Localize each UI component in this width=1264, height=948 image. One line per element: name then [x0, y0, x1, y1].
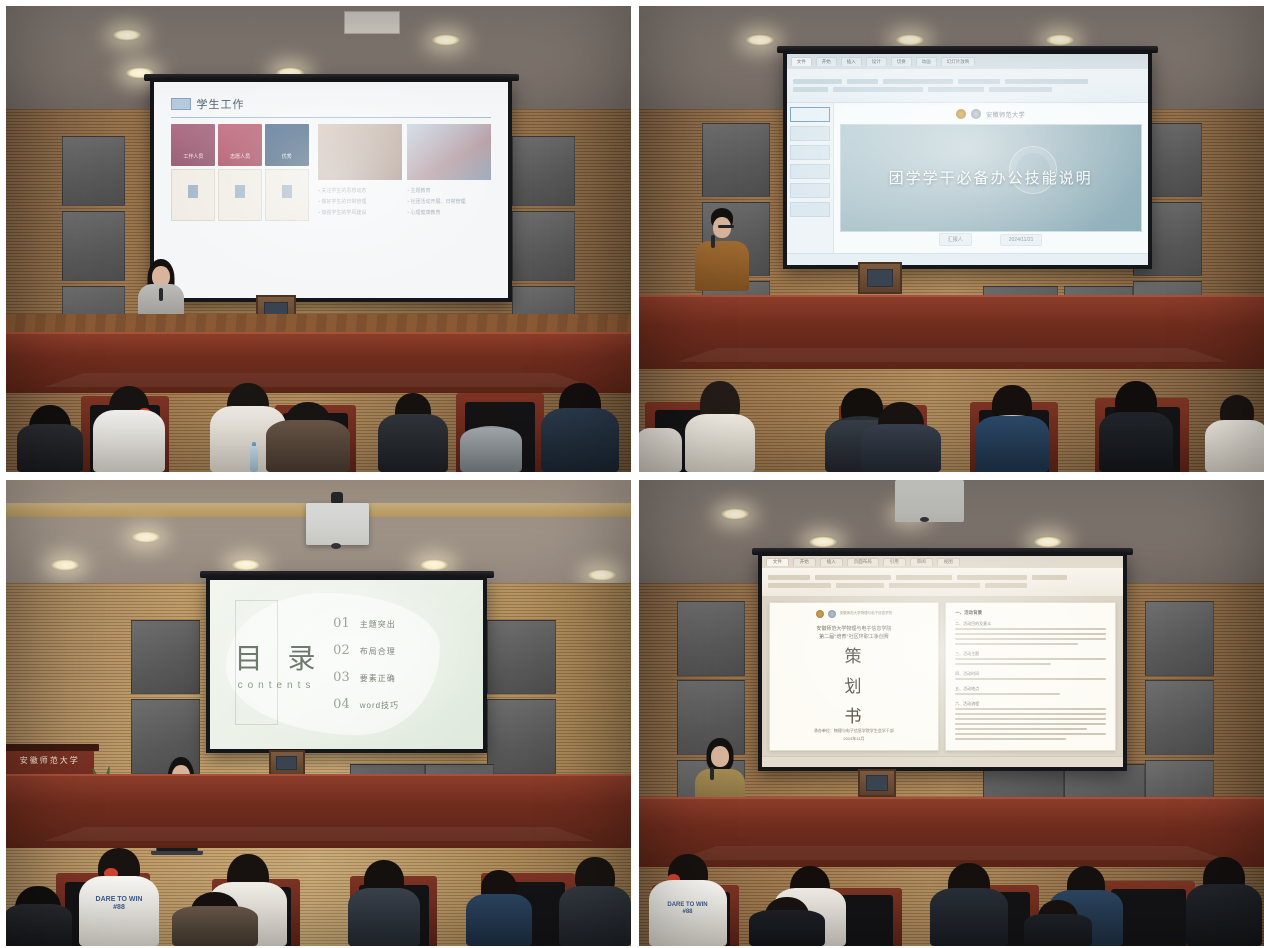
doc-text-line [955, 633, 1105, 636]
audience-torso [466, 894, 532, 946]
water-bottle [250, 446, 258, 472]
slide-canvas: 安徽师范大学 团学学干必备办公技能说明 汇报人 2024/11/21 [834, 103, 1148, 253]
hoodie-text-line2: #88 [113, 904, 125, 911]
poster-label: 工作人员 [171, 153, 215, 160]
presenter [689, 211, 755, 291]
acoustic-panel [62, 136, 125, 206]
audience-member [1102, 381, 1170, 472]
slide-title-rule [171, 117, 490, 118]
app-main-area: 安徽师范大学 团学学干必备办公技能说明 汇报人 2024/11/21 [787, 103, 1148, 253]
doc-text-line [955, 643, 1078, 646]
footer-line-2: 2024年11月 [779, 735, 929, 743]
document-org-block: 安徽师范大学物理与电子信息学院 第二届"培育"社区环职工争创赛 [779, 625, 929, 642]
audience-member [1189, 857, 1259, 946]
audience-member [562, 857, 628, 946]
doc-subsection: 三、活动主题 [955, 651, 1105, 657]
ribbon-control[interactable] [889, 583, 980, 588]
app-status-bar[interactable] [787, 253, 1148, 266]
document-seal-row: 安徽师范大学物理与电子信息学院 [779, 610, 929, 618]
contents-label: word技巧 [360, 700, 399, 711]
university-seal-icon [956, 109, 966, 119]
contents-item: 01 主题突出 [333, 616, 459, 631]
acoustic-panel [131, 620, 200, 695]
acoustic-panel [1145, 601, 1214, 676]
acoustic-panel [512, 211, 575, 281]
institution-name: 安徽师范大学 [986, 110, 1025, 119]
doc-text-line [955, 733, 1105, 736]
ribbon-control[interactable] [793, 79, 842, 84]
tab-home[interactable]: 开始 [793, 558, 816, 565]
id-card [171, 169, 215, 221]
app-ribbon[interactable] [762, 568, 1123, 597]
audience-torso [639, 428, 682, 472]
audience-member [6, 886, 70, 946]
audience-torso [172, 906, 258, 946]
photo-panel-top-left: 学生工作 工作人员 志愿人员 优秀 [6, 6, 631, 472]
document-cover-page: 安徽师范大学物理与电子信息学院 安徽师范大学物理与电子信息学院 第二届"培育"社… [769, 602, 939, 751]
doc-text-line [955, 638, 1105, 641]
doc-text-line [955, 738, 1066, 741]
slide-header: 学生工作 [171, 96, 490, 112]
bullet-column-left: 关注学生的思想动态 做好学生的日常管理 加强学生的学风建设 [318, 187, 401, 216]
doc-subsection: 二、活动目的及意义 [955, 621, 1105, 627]
audience-torso [559, 886, 631, 946]
university-emblem-icon [971, 109, 981, 119]
audience-member [94, 386, 164, 472]
hoodie-graphic-text: DARE TO WIN #88 [96, 896, 143, 912]
audience-torso [460, 428, 522, 472]
ceiling-light [431, 34, 461, 46]
ceiling-light [587, 569, 617, 581]
tab-page-layout[interactable]: 页面布局 [847, 558, 879, 565]
id-card [218, 169, 262, 221]
document-content-page: 一、活动背景 二、活动目的及意义 三、活动主题 四、活动时间 五、活动地点 [945, 602, 1115, 751]
audience-torso [1024, 914, 1092, 946]
bullet-item: 社团活动开展、日常管理 [407, 198, 490, 205]
ribbon-control[interactable] [985, 583, 1027, 588]
audience-torso [378, 414, 448, 472]
ribbon-control[interactable] [1005, 79, 1089, 84]
word-processor-app: 文件 开始 插入 页面布局 引用 审阅 视图 [762, 556, 1123, 767]
projection-screen-surface: 目 录 contents 01 主题突出 02 布局合理 03 [210, 580, 483, 749]
slide-contents: 目 录 contents 01 主题突出 02 布局合理 03 [210, 580, 483, 749]
audience-member [350, 860, 418, 946]
ribbon-row [793, 87, 1142, 92]
audience-member [175, 892, 255, 946]
podium-institution-text: 安徽师范大学 [20, 755, 80, 766]
audience-torso [1205, 420, 1264, 472]
slide-thumbnail[interactable] [790, 107, 830, 122]
audience-torso [749, 910, 825, 946]
tab-references[interactable]: 引用 [883, 558, 906, 565]
footer-line-1: 承办单位：物理与电子信息学院学生会学干部 [779, 727, 929, 735]
hoodie-text-line1: DARE TO WIN [667, 902, 707, 908]
ribbon-control[interactable] [883, 79, 953, 84]
slide-heading-en: contents [238, 680, 334, 691]
doc-subsection: 六、活动流程 [955, 701, 1105, 707]
poster-row: 工作人员 志愿人员 优秀 [171, 124, 308, 166]
audience-member [462, 402, 520, 472]
audience-torso [348, 888, 420, 946]
acoustic-panel [1145, 680, 1214, 755]
slide-photo-banner [407, 124, 491, 180]
slide-footer: 汇报人 2024/11/21 [840, 232, 1142, 248]
audience: DARE TO WIN #88 [639, 792, 1264, 946]
slide-heading-block: 目 录 contents [235, 637, 334, 691]
doc-subsection: 四、活动时间 [955, 671, 1105, 677]
date-label: 2024/11/21 [1000, 234, 1043, 246]
slide-body: 工作人员 志愿人员 优秀 [171, 124, 490, 221]
stage-speaker [269, 750, 305, 776]
doc-text-line [955, 678, 1105, 681]
ceiling-light [745, 34, 775, 46]
ribbon-control[interactable] [896, 575, 952, 580]
microphone-icon [710, 767, 714, 780]
ribbon-row [793, 79, 1142, 84]
seal-caption: 安徽师范大学物理与电子信息学院 [840, 611, 893, 616]
slide-right-column: 关注学生的思想动态 做好学生的日常管理 加强学生的学风建设 主题教育 社团活动开… [318, 124, 490, 221]
audience-torso [266, 420, 350, 472]
contents-number: 02 [333, 643, 350, 658]
presentation-app: 文件 开始 插入 设计 切换 动画 幻灯片放映 [787, 54, 1148, 265]
audience-torso [1186, 884, 1262, 946]
audience-member [269, 402, 347, 472]
speaker-grille-icon [867, 269, 893, 287]
eyeglasses-icon [718, 225, 734, 228]
slide-thumbnail-pane[interactable] [787, 103, 834, 253]
presenter-label: 汇报人 [939, 233, 972, 246]
slide-heading-cn: 目 录 [235, 637, 334, 677]
doc-section-heading: 一、活动背景 [955, 610, 1105, 616]
slide-thumbnail[interactable] [790, 183, 830, 198]
audience-torso [1099, 412, 1173, 472]
tab-insert[interactable]: 插入 [841, 57, 862, 66]
photo-panel-bottom-left: 目 录 contents 01 主题突出 02 布局合理 03 [6, 480, 631, 946]
bullet-column-right: 主题教育 社团活动开展、日常管理 心理健康教育 [407, 187, 490, 216]
doc-text-line [955, 723, 1105, 726]
projector-body [306, 503, 369, 545]
ceiling-projector [331, 492, 343, 504]
ribbon-control[interactable] [833, 87, 924, 92]
audience [639, 304, 1264, 472]
acoustic-panel [512, 136, 575, 206]
tab-animations[interactable]: 动画 [916, 57, 937, 66]
projection-screen-frame: 文件 开始 插入 设计 切换 动画 幻灯片放映 [783, 50, 1152, 269]
doc-text-line [955, 728, 1087, 731]
audience-member [639, 415, 679, 472]
poster-label: 志愿人员 [218, 153, 262, 160]
contents-label: 要素正确 [360, 673, 396, 684]
doc-text-line [955, 663, 1051, 666]
ceiling-light [808, 536, 838, 548]
photo-panel-top-right: 文件 开始 插入 设计 切换 动画 幻灯片放映 [639, 6, 1264, 472]
projection-screen-frame: 目 录 contents 01 主题突出 02 布局合理 03 [206, 576, 487, 753]
speaker-grille-icon [276, 756, 297, 770]
slide-bullet-area: 关注学生的思想动态 做好学生的日常管理 加强学生的学风建设 主题教育 社团活动开… [318, 187, 490, 216]
projection-screen-frame: 文件 开始 插入 页面布局 引用 审阅 视图 [758, 552, 1127, 771]
audience-torso [17, 424, 83, 472]
audience-torso [861, 424, 941, 472]
tab-transitions[interactable]: 切换 [891, 57, 912, 66]
hoodie-text-line2: #88 [682, 909, 692, 915]
document-page-spread[interactable]: 安徽师范大学物理与电子信息学院 安徽师范大学物理与电子信息学院 第二届"培育"社… [762, 597, 1123, 756]
audience-member [689, 381, 751, 472]
poster-item: 工作人员 [171, 124, 215, 166]
presenter-body [695, 241, 749, 291]
doc-subsection: 五、活动地点 [955, 686, 1105, 692]
poster-item: 优秀 [265, 124, 309, 166]
ceiling-light [1033, 536, 1063, 548]
bullet-item: 关注学生的思想动态 [318, 187, 401, 194]
acoustic-panel [487, 620, 556, 695]
audience-torso [975, 416, 1049, 472]
poster-label: 优秀 [265, 153, 309, 160]
ceiling-light [720, 508, 750, 520]
slide-photo-speaker [318, 124, 402, 180]
tab-view[interactable]: 视图 [937, 558, 960, 565]
audience-torso [685, 414, 755, 472]
slide-student-work: 学生工作 工作人员 志愿人员 优秀 [154, 82, 509, 298]
ribbon-control[interactable] [989, 87, 1052, 92]
contents-number: 03 [333, 670, 350, 685]
photo-collage: 学生工作 工作人员 志愿人员 优秀 [0, 0, 1264, 948]
doc-text-line [955, 628, 1105, 631]
projection-screen-surface: 学生工作 工作人员 志愿人员 优秀 [154, 82, 509, 298]
audience-member [469, 870, 529, 946]
ribbon-control[interactable] [836, 583, 885, 588]
slide-contents-list: 01 主题突出 02 布局合理 03 要素正确 04 [333, 616, 459, 712]
microphone-icon [711, 235, 715, 248]
slide-institution-header: 安徽师范大学 [840, 108, 1142, 121]
portrait-icon [188, 185, 198, 198]
ribbon-control[interactable] [1032, 575, 1067, 580]
ribbon-control[interactable] [957, 575, 1027, 580]
ribbon-control[interactable] [815, 575, 892, 580]
audience-member [752, 897, 822, 946]
contents-item: 04 word技巧 [333, 697, 459, 712]
projection-screen-surface: 文件 开始 插入 设计 切换 动画 幻灯片放映 [787, 54, 1148, 265]
slide-title: 学生工作 [196, 96, 244, 112]
slide-photo-row [318, 124, 490, 180]
org-line-1: 安徽师范大学物理与电子信息学院 [779, 625, 929, 634]
ribbon-control[interactable] [768, 583, 831, 588]
projector-lens-icon [331, 543, 341, 549]
slide-title-banner: 团学学干必备办公技能说明 [840, 124, 1142, 232]
acoustic-panel [487, 699, 556, 774]
app-tab-bar[interactable]: 文件 开始 插入 页面布局 引用 审阅 视图 [762, 556, 1123, 568]
document-cover-footer: 承办单位：物理与电子信息学院学生会学干部 2024年11月 [779, 727, 929, 743]
hoodie-text-line1: DARE TO WIN [96, 896, 143, 903]
title-char-1: 策 [844, 642, 863, 667]
university-seal-icon [816, 610, 824, 618]
ribbon-control[interactable] [768, 575, 810, 580]
microphone-icon [159, 288, 163, 301]
audience-member [933, 863, 1005, 946]
acoustic-panel [702, 123, 771, 198]
slide-title-marker-icon [171, 98, 191, 110]
contents-item: 03 要素正确 [333, 670, 459, 685]
doc-text-line [955, 693, 1060, 696]
ribbon-row [768, 575, 1117, 580]
portrait-icon [282, 185, 292, 198]
contents-item: 02 布局合理 [333, 643, 459, 658]
ribbon-control[interactable] [793, 87, 828, 92]
ceiling-light [895, 34, 925, 46]
acoustic-panel [677, 601, 746, 676]
tab-review[interactable]: 审阅 [910, 558, 933, 565]
ceiling-light [1045, 34, 1075, 46]
audience-torso [93, 410, 165, 472]
poster-item: 志愿人员 [218, 124, 262, 166]
org-line-2: 第二届"培育"社区环职工争创赛 [779, 633, 929, 642]
audience-member [19, 405, 81, 472]
speaker-grille-icon [866, 775, 888, 790]
tab-file[interactable]: 文件 [766, 558, 789, 565]
ribbon-control[interactable] [847, 79, 878, 84]
slide-thumbnail[interactable] [790, 164, 830, 179]
audience-torso [541, 408, 619, 472]
audience-member [1208, 395, 1264, 472]
audience-member [977, 385, 1047, 472]
slide-thumbnail[interactable] [790, 126, 830, 141]
tab-insert[interactable]: 插入 [820, 558, 843, 565]
doc-text-line [955, 713, 1105, 716]
title-char-3: 书 [844, 702, 863, 727]
audience-member [544, 383, 616, 472]
tab-file[interactable]: 文件 [791, 57, 812, 66]
projection-screen-surface: 文件 开始 插入 页面布局 引用 审阅 视图 [762, 556, 1123, 767]
doc-text-line [955, 718, 1105, 721]
ribbon-control[interactable] [958, 79, 1000, 84]
bullet-item: 主题教育 [407, 187, 490, 194]
audience-torso [6, 904, 72, 946]
slide-left-column: 工作人员 志愿人员 优秀 [171, 124, 308, 221]
audience-member [864, 402, 938, 472]
audience [6, 314, 631, 472]
doc-text-line [955, 658, 1105, 661]
contents-number: 04 [333, 697, 350, 712]
document-title: 策 划 书 [779, 642, 929, 727]
audience-member [381, 393, 445, 472]
portrait-icon [235, 185, 245, 198]
doc-text-line [955, 708, 1105, 711]
stage-speaker [858, 262, 902, 294]
tab-design[interactable]: 设计 [866, 57, 887, 66]
audience-member: DARE TO WIN #88 [81, 848, 157, 946]
bullet-item: 做好学生的日常管理 [318, 198, 401, 205]
ceiling-light [419, 559, 449, 571]
tab-home[interactable]: 开始 [816, 57, 837, 66]
acoustic-panel [62, 211, 125, 281]
presenter-head [711, 746, 729, 767]
audience: DARE TO WIN #88 [6, 788, 631, 946]
audience-torso [930, 888, 1008, 946]
hoodie-graphic-text: DARE TO WIN #88 [667, 902, 707, 916]
id-card [265, 169, 309, 221]
contents-label: 主题突出 [360, 619, 396, 630]
tab-slideshow[interactable]: 幻灯片放映 [941, 57, 976, 66]
app-tab-bar[interactable]: 文件 开始 插入 设计 切换 动画 幻灯片放映 [787, 54, 1148, 69]
projection-screen-frame: 学生工作 工作人员 志愿人员 优秀 [150, 78, 513, 302]
bullet-item: 加强学生的学风建设 [318, 209, 401, 216]
app-status-bar[interactable] [762, 756, 1123, 768]
ceiling-projector [895, 480, 964, 522]
podium-top-rail [6, 744, 99, 751]
slide-thumbnail[interactable] [790, 202, 830, 217]
title-char-2: 划 [844, 672, 863, 697]
contents-label: 布局合理 [360, 646, 396, 657]
ribbon-control[interactable] [928, 87, 984, 92]
slide-thumbnail[interactable] [790, 145, 830, 160]
ceiling-vent [344, 11, 400, 34]
slide-title: 团学学干必备办公技能说明 [889, 167, 1093, 188]
id-card-row [171, 169, 308, 221]
contents-number: 01 [333, 616, 350, 631]
university-emblem-icon [828, 610, 836, 618]
audience-member [1027, 900, 1089, 946]
ribbon-row [768, 583, 1117, 588]
bullet-item: 心理健康教育 [407, 209, 490, 216]
audience-member: DARE TO WIN #88 [652, 854, 724, 946]
photo-panel-bottom-right: 文件 开始 插入 页面布局 引用 审阅 视图 [639, 480, 1264, 946]
app-ribbon[interactable] [787, 69, 1148, 103]
